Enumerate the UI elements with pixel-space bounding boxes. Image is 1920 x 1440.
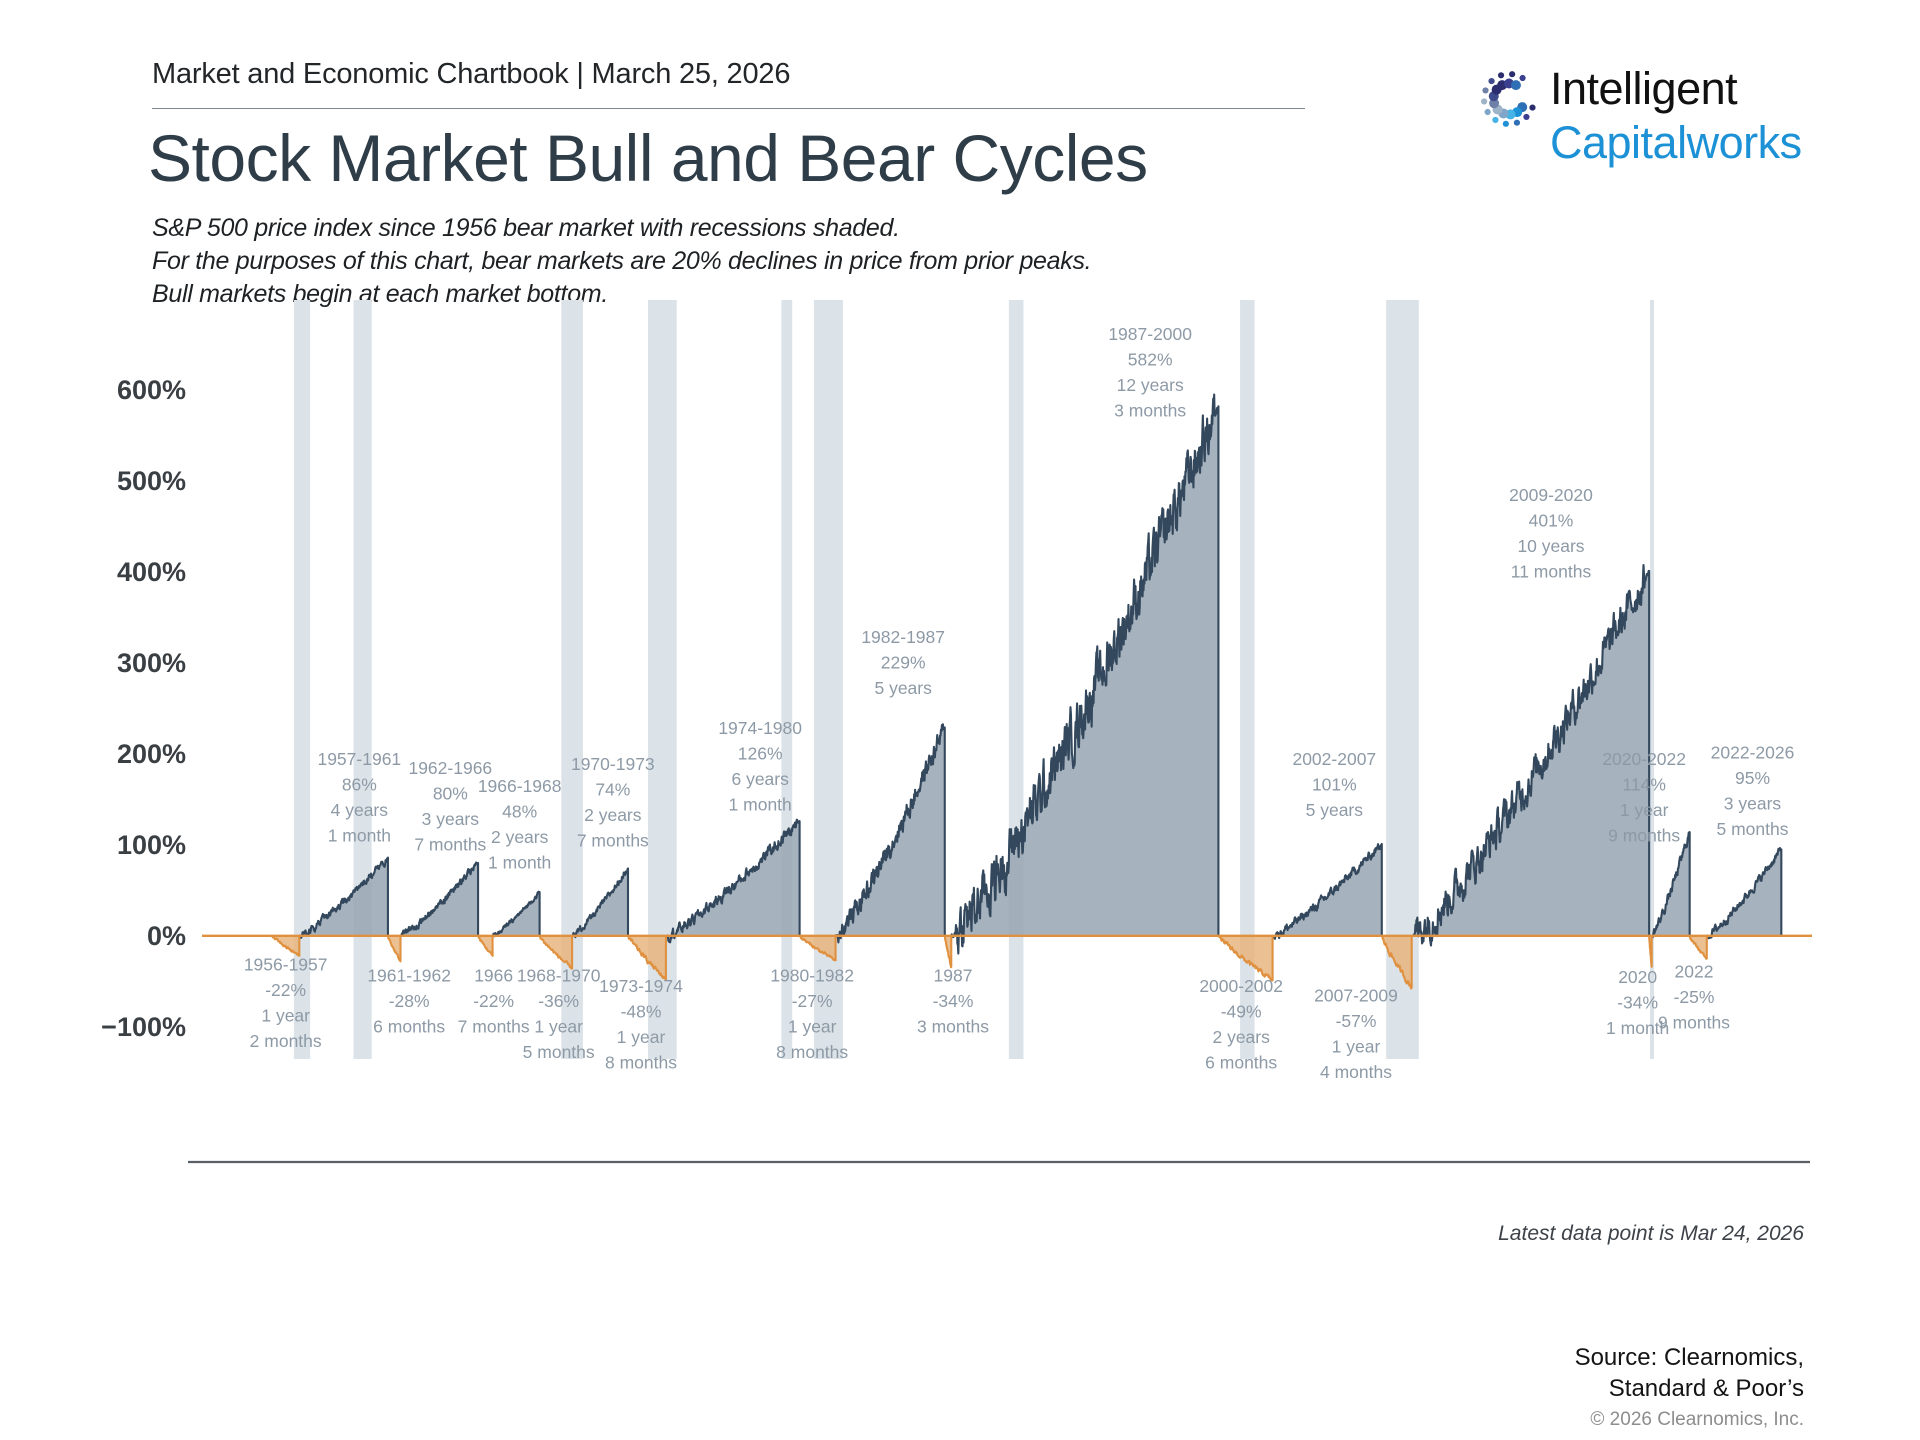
annotation-line: 1956-1957 (244, 954, 328, 974)
annotation-line: -22% (265, 980, 306, 1000)
annotation-line: 1987-2000 (1108, 324, 1192, 344)
annotation-line: 2022 (1675, 962, 1714, 982)
annotation-line: -48% (621, 1002, 662, 1022)
annotation-line: 2 years (491, 827, 549, 847)
annotation-line: 401% (1529, 510, 1574, 530)
recession-bands (294, 300, 1654, 1059)
page-subtitle: S&P 500 price index since 1956 bear mark… (152, 212, 1091, 311)
bull-market-annotation: 2022-202695%3 years5 months (1711, 742, 1795, 839)
annotation-line: 48% (502, 802, 537, 822)
chart-svg: −100%0%100%200%300%400%500%600% 19601970… (0, 300, 1920, 1170)
y-axis-tick-label: 300% (117, 648, 186, 678)
bear-market-annotation: 1961-1962-28%6 months (367, 965, 451, 1036)
annotation-line: 229% (881, 652, 926, 672)
annotation-line: -49% (1221, 1002, 1262, 1022)
annotation-line: 5 years (874, 678, 932, 698)
annotation-line: -34% (933, 991, 974, 1011)
annotation-line: 126% (738, 743, 783, 763)
annotation-line: 2002-2007 (1292, 749, 1376, 769)
y-axis-labels: −100%0%100%200%300%400%500%600% (101, 375, 186, 1042)
annotation-line: 1961-1962 (367, 965, 451, 985)
annotation-line: 3 years (422, 809, 480, 829)
annotation-line: 7 months (577, 831, 649, 851)
y-axis-tick-label: 500% (117, 466, 186, 496)
annotation-line: 5 years (1306, 800, 1364, 820)
logo-line-1: Intelligent (1550, 62, 1802, 116)
annotation-line: 1973-1974 (599, 976, 683, 996)
bull-market-annotation: 1982-1987229%5 years (861, 627, 945, 698)
annotation-line: 6 years (731, 769, 789, 789)
annotation-line: 10 years (1517, 536, 1584, 556)
y-axis-tick-label: 0% (147, 921, 186, 951)
annotation-line: 1 year (534, 1016, 583, 1036)
annotation-line: -34% (1617, 993, 1658, 1013)
source-line-1: Source: Clearnomics, (1575, 1342, 1804, 1373)
page-title: Stock Market Bull and Bear Cycles (148, 120, 1148, 196)
annotation-line: 80% (433, 783, 468, 803)
annotation-line: 114% (1622, 774, 1665, 794)
annotation-line: -36% (538, 991, 579, 1011)
y-axis-tick-label: 100% (117, 830, 186, 860)
annotation-line: 5 months (1717, 819, 1789, 839)
y-axis-tick-label: −100% (101, 1012, 186, 1042)
bull-market-annotation: 2009-2020401%10 years11 months (1509, 485, 1593, 581)
copyright-notice: © 2026 Clearnomics, Inc. (1590, 1409, 1804, 1431)
sp500-series (272, 395, 1781, 989)
annotation-line: 6 months (1205, 1053, 1277, 1073)
annotation-line: 1 year (617, 1027, 666, 1047)
annotation-line: 7 months (458, 1016, 530, 1036)
brand-logo: Intelligent Capitalworks (1478, 62, 1808, 184)
annotation-line: 1966-1968 (478, 776, 562, 796)
annotation-line: 101% (1312, 774, 1357, 794)
annotation-line: 1962-1966 (408, 758, 492, 778)
subtitle-line-2: For the purposes of this chart, bear mar… (152, 245, 1091, 278)
annotation-line: 4 years (331, 800, 389, 820)
bull-market-area (1707, 848, 1782, 938)
annotation-line: 1 year (1332, 1036, 1381, 1056)
logo-wordmark: Intelligent Capitalworks (1550, 62, 1802, 170)
annotation-line: 1966 (474, 965, 513, 985)
bull-market-annotation: 2002-2007101%5 years (1292, 749, 1376, 820)
annotation-line: 1 year (261, 1005, 310, 1025)
bear-market-annotation: 2007-2009-57%1 year4 months (1314, 985, 1398, 1082)
annotation-line: -28% (389, 991, 430, 1011)
annotation-line: 3 months (917, 1016, 989, 1036)
annotation-line: 1957-1961 (317, 749, 401, 769)
annotation-line: 2020 (1618, 967, 1657, 987)
annotation-line: 1980-1982 (770, 965, 854, 985)
annotation-line: 2009-2020 (1509, 485, 1593, 505)
bear-market-annotation: 1956-1957-22%1 year2 months (244, 954, 328, 1051)
bull-market-annotation: 1987-2000582%12 years3 months (1108, 324, 1192, 421)
annotation-line: 1 year (1620, 800, 1669, 820)
annotation-line: 2000-2002 (1199, 976, 1283, 996)
bull-market-area (493, 892, 540, 936)
annotation-line: 1 year (788, 1016, 837, 1036)
annotation-line: 6 months (373, 1016, 445, 1036)
annotation-line: 5 months (523, 1042, 595, 1062)
y-axis-tick-label: 600% (117, 375, 186, 405)
annotation-line: 7 months (414, 834, 486, 854)
latest-data-point: Latest data point is Mar 24, 2026 (1498, 1222, 1804, 1246)
header-divider (152, 108, 1305, 109)
annotation-line: 1974-1980 (718, 718, 802, 738)
annotation-line: 582% (1128, 349, 1173, 369)
recession-band (1009, 300, 1024, 1059)
bull-bear-chart: −100%0%100%200%300%400%500%600% 19601970… (0, 300, 1920, 1170)
annotation-line: 1 month (488, 853, 551, 873)
y-axis-tick-label: 200% (117, 739, 186, 769)
bull-market-annotation: 1966-196848%2 years1 month (478, 776, 562, 873)
annotation-line: 1968-1970 (517, 965, 601, 985)
annotation-line: 1 month (729, 794, 792, 814)
annotation-line: 2022-2026 (1711, 742, 1795, 762)
source-line-2: Standard & Poor’s (1575, 1373, 1804, 1404)
source-credit: Source: Clearnomics, Standard & Poor’s (1575, 1342, 1804, 1404)
annotation-line: 3 months (1114, 400, 1186, 420)
annotation-line: 1 month (328, 825, 391, 845)
recession-band (353, 300, 371, 1059)
annotation-line: 2007-2009 (1314, 985, 1398, 1005)
annotation-line: -25% (1674, 987, 1715, 1007)
annotation-line: -22% (473, 991, 514, 1011)
annotation-line: 2 months (250, 1031, 322, 1051)
annotation-line: 4 months (1320, 1062, 1392, 1082)
annotation-line: 1987 (934, 965, 973, 985)
bear-market-annotation: 1987-34%3 months (917, 965, 989, 1036)
chart-page: Market and Economic Chartbook | March 25… (0, 0, 1920, 1440)
annotation-line: 74% (595, 780, 630, 800)
annotation-line: 2 years (1212, 1027, 1270, 1047)
bear-market-annotation: 1968-1970-36%1 year5 months (517, 965, 601, 1061)
annotation-line: 2 years (584, 805, 642, 825)
annotation-line: 8 months (776, 1042, 848, 1062)
annotation-line: 3 years (1724, 793, 1782, 813)
annotation-line: 9 months (1658, 1013, 1730, 1033)
logo-line-2: Capitalworks (1550, 116, 1802, 170)
annotation-line: 86% (342, 774, 377, 794)
bear-market-annotation: 2022-25%9 months (1658, 962, 1730, 1033)
annotation-line: 1970-1973 (571, 754, 655, 774)
circular-dots-icon (1478, 68, 1540, 130)
annotation-line: 95% (1735, 768, 1770, 788)
subtitle-line-1: S&P 500 price index since 1956 bear mark… (152, 212, 1091, 245)
annotation-line: 12 years (1117, 375, 1184, 395)
annotation-line: -57% (1336, 1011, 1377, 1031)
bull-market-annotation: 1962-196680%3 years7 months (408, 758, 492, 855)
annotation-line: 9 months (1608, 825, 1680, 845)
annotation-line: 11 months (1511, 561, 1592, 581)
y-axis-tick-label: 400% (117, 557, 186, 587)
annotation-line: 2020-2022 (1602, 749, 1686, 769)
recession-band (781, 300, 792, 1059)
annotation-line: -27% (792, 991, 833, 1011)
annotation-line: 1982-1987 (861, 627, 945, 647)
bull-market-annotation: 1970-197374%2 years7 months (571, 754, 655, 851)
chartbook-kicker: Market and Economic Chartbook | March 25… (152, 58, 790, 91)
annotation-line: 8 months (605, 1053, 677, 1073)
